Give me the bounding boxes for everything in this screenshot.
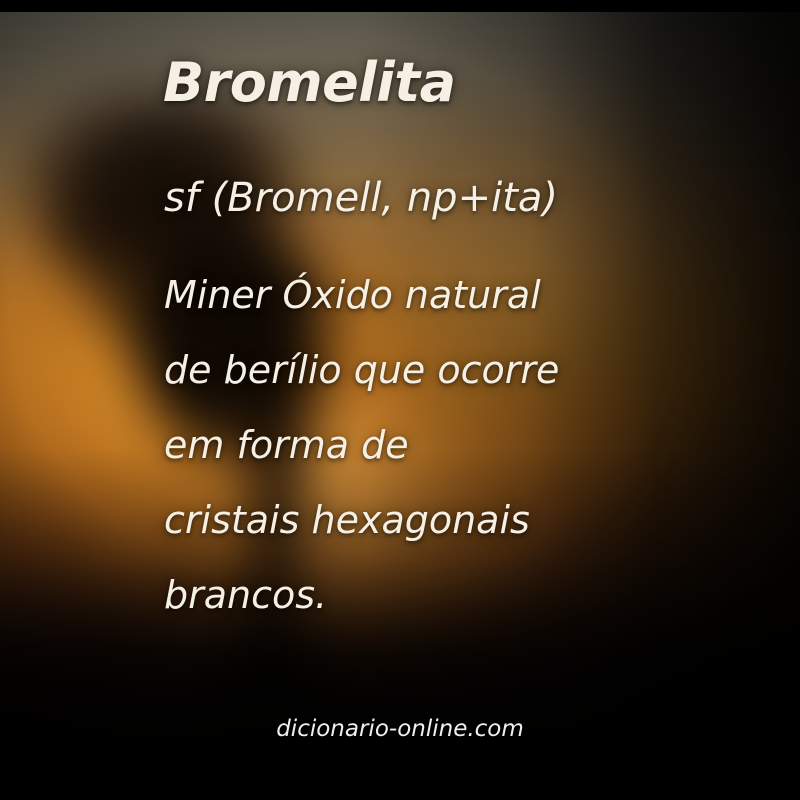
definition-text: Miner Óxido natural de berílio que ocorr…	[164, 258, 684, 633]
site-watermark: dicionario-online.com	[0, 716, 800, 742]
definition-line: cristais hexagonais	[164, 483, 684, 558]
definition-line: de berílio que ocorre	[164, 333, 684, 408]
definition-card: Bromelita sf (Bromell, np+ita) Miner Óxi…	[0, 0, 800, 800]
definition-line: brancos.	[164, 558, 684, 633]
page-title: Bromelita	[163, 56, 456, 110]
card-content: Bromelita sf (Bromell, np+ita) Miner Óxi…	[0, 0, 800, 800]
definition-line: em forma de	[164, 408, 684, 483]
definition-line: Miner Óxido natural	[164, 258, 684, 333]
grammar-info: sf (Bromell, np+ita)	[164, 178, 558, 218]
